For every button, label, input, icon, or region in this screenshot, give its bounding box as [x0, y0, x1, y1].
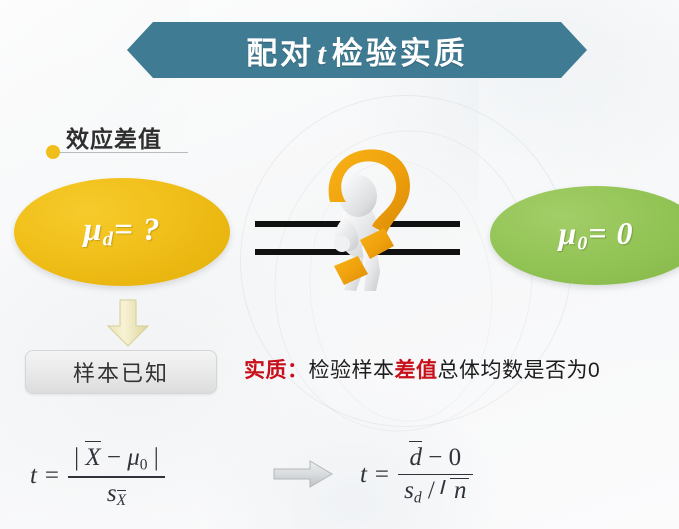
division-slash: /: [428, 477, 435, 504]
mu-zero-subscript: 0: [577, 233, 588, 255]
effect-difference-underline: [60, 152, 188, 153]
d-bar: d: [409, 441, 422, 473]
essence-part1: 检验样本: [309, 359, 395, 382]
essence-keyword: 实质：: [244, 359, 309, 382]
title-variable-t: t: [314, 36, 332, 71]
minus-sign: −: [428, 444, 442, 471]
formula-right-denominator: sd / n: [398, 475, 472, 509]
implies-arrow-icon: [272, 459, 334, 489]
formula-left-numerator: | X − μ0 |: [68, 440, 165, 476]
formula-right-numerator: d − 0: [403, 440, 467, 474]
s-symbol: s: [107, 480, 117, 507]
title-prefix: 配对: [246, 36, 314, 71]
down-arrow-icon: [100, 298, 156, 348]
formula-left-fraction: | X − μ0 | sX: [68, 440, 165, 511]
mu-d-symbol: μ: [83, 212, 102, 248]
sqrt-n: n: [441, 476, 467, 506]
s-subscript-xbar: X: [117, 490, 126, 510]
abs-close: |: [154, 444, 159, 471]
essence-highlight: 差值: [395, 359, 438, 382]
s-subscript-d: d: [414, 490, 422, 507]
bullet-dot-icon: [46, 145, 60, 159]
mu-zero-ellipse: μ0= 0: [490, 186, 679, 285]
question-mark-mascot: [300, 148, 420, 293]
abs-open: |: [74, 444, 79, 471]
slide-canvas: 配对t检验实质 效应差值 μd= ? μ0= 0: [0, 0, 679, 529]
s-symbol: s: [404, 477, 414, 504]
essence-statement: 实质：检验样本差值总体均数是否为0: [244, 354, 600, 384]
formula-right-fraction: d − 0 sd / n: [398, 440, 472, 509]
page-title: 配对t检验实质: [246, 28, 468, 73]
formula-left-lhs: t =: [30, 462, 68, 490]
mu-zero-formula: μ0= 0: [559, 215, 634, 256]
sample-known-label: 样本已知: [73, 356, 169, 388]
formula-right-lhs: t =: [360, 461, 398, 489]
zero-value: 0: [449, 444, 462, 471]
formula-one-sample-t: t = | X − μ0 | sX: [30, 440, 165, 511]
mu-d-formula: μd= ?: [83, 212, 160, 252]
mu-d-rest: = ?: [114, 212, 161, 248]
sample-known-box: 样本已知: [25, 350, 217, 394]
mu-zero-symbol: μ: [559, 215, 578, 251]
x-bar: X: [85, 441, 100, 473]
title-suffix: 检验实质: [332, 36, 468, 71]
effect-difference-label: 效应差值: [66, 120, 162, 154]
mu-symbol: μ: [127, 444, 140, 471]
minus-sign: −: [107, 444, 121, 471]
mu-d-subscript: d: [103, 229, 114, 251]
mu-zero-rest: = 0: [588, 215, 633, 251]
essence-part2: 总体均数是否为0: [438, 359, 601, 382]
formula-paired-t: t = d − 0 sd / n: [360, 440, 473, 509]
mu-subscript: 0: [140, 457, 148, 474]
formula-left-denominator: sX: [101, 478, 132, 512]
title-banner: 配对t检验实质: [127, 22, 587, 78]
mu-d-ellipse: μd= ?: [14, 178, 230, 286]
